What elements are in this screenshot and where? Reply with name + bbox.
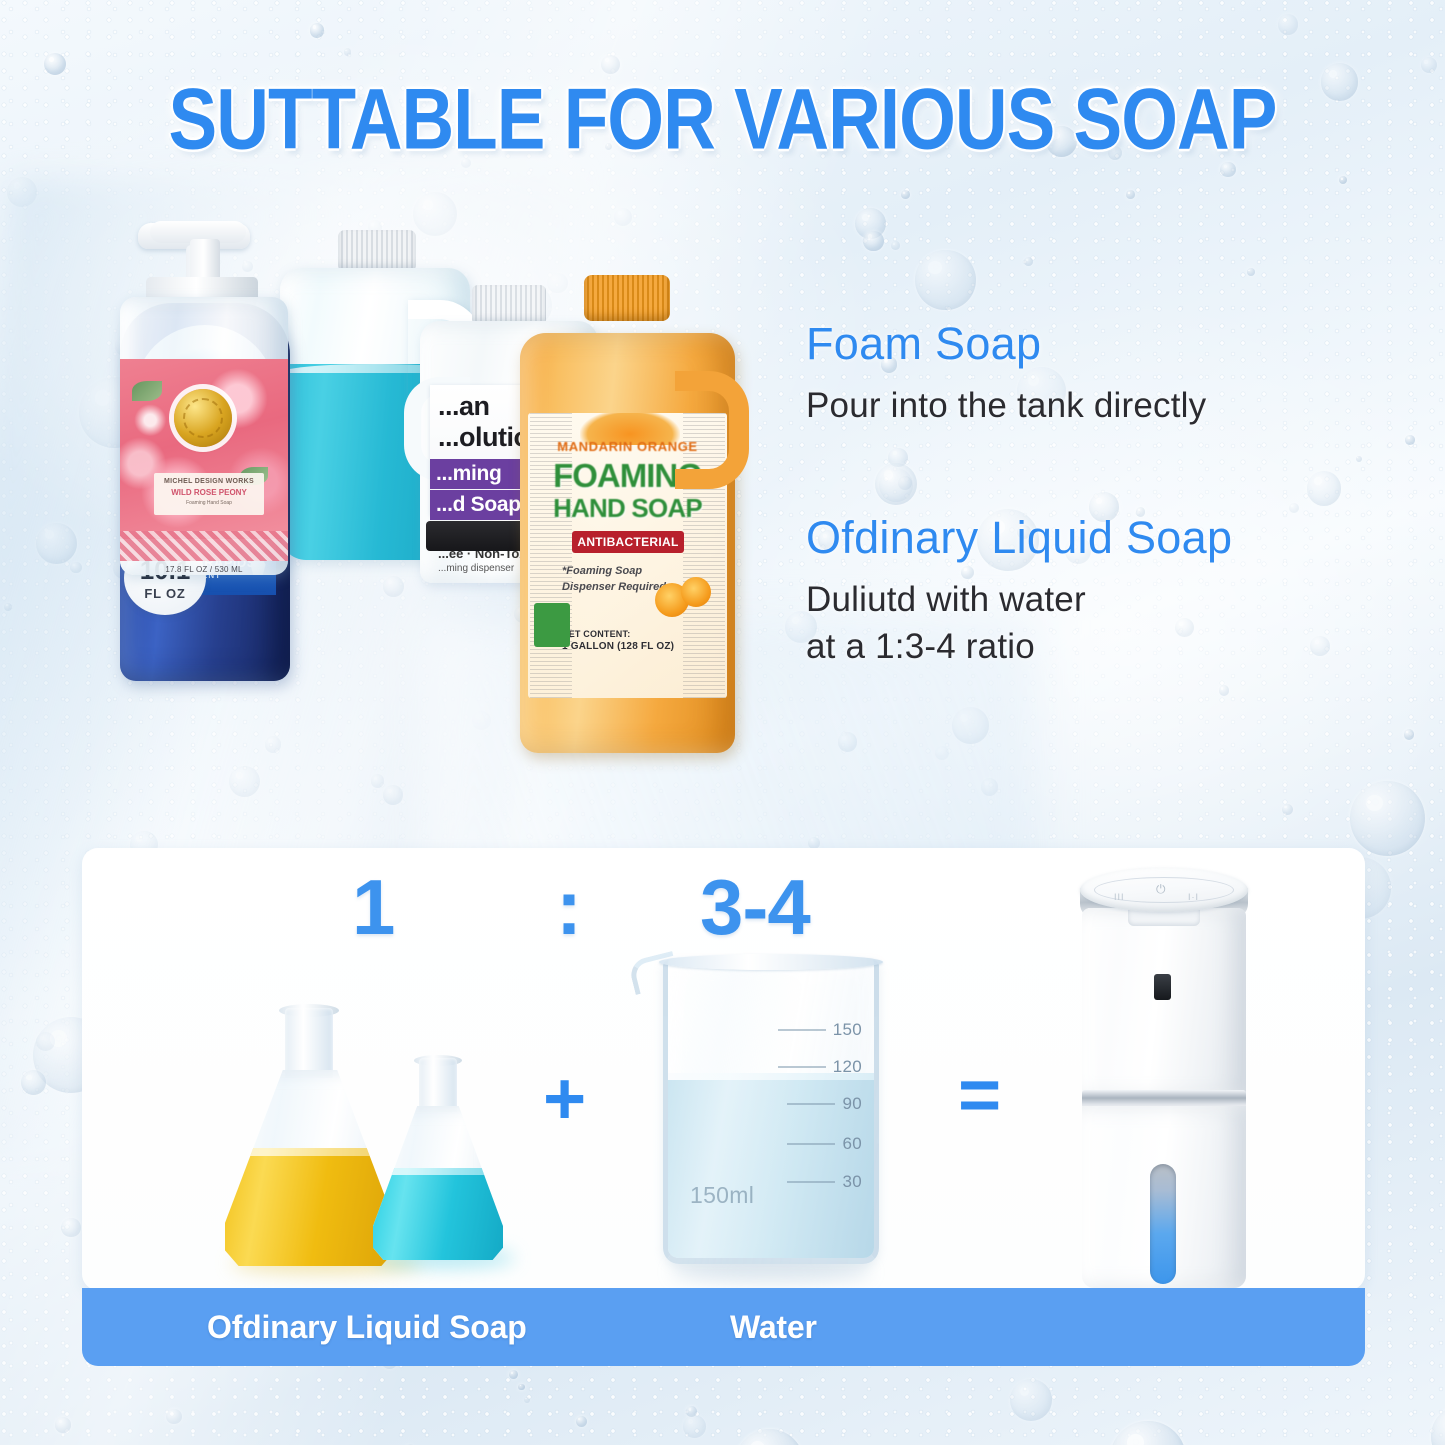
floral-label-line2: WILD ROSE PEONY bbox=[154, 488, 264, 497]
antibacterial-badge: ANTIBACTERIAL bbox=[572, 531, 684, 553]
graduation-label: 90 bbox=[842, 1094, 862, 1114]
graduation-90: 90 bbox=[787, 1094, 862, 1114]
label-side-text-left bbox=[530, 413, 572, 698]
dispenser-upper-body bbox=[1082, 908, 1246, 1098]
beaker-rim bbox=[659, 954, 883, 970]
orange-name-line2: HAND SOAP bbox=[528, 493, 727, 524]
graduation-line bbox=[778, 1066, 826, 1068]
erlenmeyer-flask-yellow bbox=[225, 1008, 395, 1266]
flask-liquid-yellow bbox=[225, 1148, 395, 1266]
flask-cone bbox=[373, 1106, 503, 1260]
beaker-glass: 150 120 90 60 30 150ml bbox=[663, 960, 879, 1264]
dispenser-level-indicator-right[interactable]: I·I bbox=[1188, 892, 1199, 902]
orange-slice-graphic bbox=[655, 575, 713, 621]
ratio-left-value: 1 bbox=[352, 862, 394, 953]
bottle-body: MICHEL DESIGN WORKS WILD ROSE PEONY Foam… bbox=[120, 297, 288, 575]
feature-foam-description: Pour into the tank directly bbox=[806, 384, 1206, 429]
floral-pattern-band bbox=[120, 531, 288, 561]
power-button-icon[interactable]: ⏻ bbox=[1156, 882, 1167, 897]
feature-liquid-soap: Ofdinary Liquid Soap Duliutd with water … bbox=[806, 512, 1232, 670]
soap-level-window bbox=[1150, 1164, 1176, 1284]
automatic-soap-dispenser: III ⏻ I·I bbox=[1076, 868, 1252, 1288]
beaker-capacity-label: 150ml bbox=[690, 1182, 754, 1209]
orange-requirement-line1: *Foaming Soap bbox=[562, 565, 642, 577]
jug-cap bbox=[584, 275, 670, 321]
orange-slice-2 bbox=[681, 577, 711, 607]
beaker-shadow bbox=[671, 1262, 871, 1282]
orange-requirement-line2: Dispenser Required bbox=[562, 581, 666, 593]
graduation-label: 120 bbox=[833, 1057, 862, 1077]
flask-neck bbox=[285, 1008, 333, 1078]
jug-handle bbox=[675, 371, 749, 489]
graduation-line bbox=[787, 1143, 835, 1145]
equals-icon: = bbox=[958, 1058, 1001, 1132]
dawn-volume-unit: FL OZ bbox=[124, 586, 206, 601]
graduation-label: 150 bbox=[833, 1020, 862, 1040]
feature-liquid-description-line1: Duliutd with water bbox=[806, 578, 1232, 623]
caption-liquid-soap: Ofdinary Liquid Soap bbox=[207, 1309, 527, 1346]
dispenser-level-indicator-left[interactable]: III bbox=[1114, 892, 1125, 902]
floral-volume: 17.8 FL OZ / 530 ML bbox=[120, 565, 288, 574]
floral-label-line1: MICHEL DESIGN WORKS bbox=[154, 478, 264, 485]
floral-text-block: MICHEL DESIGN WORKS WILD ROSE PEONY Foam… bbox=[154, 473, 264, 515]
feature-liquid-heading: Ofdinary Liquid Soap bbox=[806, 512, 1232, 564]
gold-seal-icon bbox=[174, 389, 232, 447]
orange-net-label: NET CONTENT: bbox=[562, 629, 630, 639]
feature-liquid-description-line2: at a 1:3-4 ratio bbox=[806, 625, 1232, 670]
feature-foam-heading: Foam Soap bbox=[806, 318, 1206, 370]
graduation-120: 120 bbox=[778, 1057, 862, 1077]
pump-head bbox=[150, 215, 254, 283]
page-title: SUTTABLE FOR VARIOUS SOAP bbox=[0, 71, 1445, 169]
orange-foaming-soap-jug: MANDARIN ORANGE FOAMING HAND SOAP ANTIBA… bbox=[520, 275, 745, 755]
leaf-graphic bbox=[132, 381, 162, 401]
orange-green-seal bbox=[534, 603, 570, 647]
orange-net-value: 1 GALLON (128 FL OZ) bbox=[562, 641, 674, 652]
infographic-stage: SUTTABLE FOR VARIOUS SOAP Foam Soap Pour… bbox=[0, 0, 1445, 1445]
floral-label-line3: Foaming Hand Soap bbox=[154, 500, 264, 506]
jug-cap bbox=[338, 230, 416, 272]
caption-bar: Ofdinary Liquid Soap Water bbox=[82, 1288, 1365, 1366]
graduation-line bbox=[787, 1103, 835, 1105]
graduation-label: 30 bbox=[842, 1172, 862, 1192]
graduation-30: 30 bbox=[787, 1172, 862, 1192]
measuring-beaker: 150 120 90 60 30 150ml bbox=[645, 952, 895, 1270]
ratio-separator: : bbox=[556, 862, 581, 953]
soap-bottle-group: ...an ...olution ...ming ...d Soap LAVEN… bbox=[120, 215, 780, 775]
ratio-right-value: 3-4 bbox=[700, 862, 810, 953]
motion-sensor-icon bbox=[1154, 974, 1171, 1000]
erlenmeyer-flask-cyan bbox=[373, 1058, 503, 1260]
graduation-150: 150 bbox=[778, 1020, 862, 1040]
graduation-line bbox=[787, 1181, 835, 1183]
graduation-60: 60 bbox=[787, 1134, 862, 1154]
caption-water: Water bbox=[730, 1309, 817, 1346]
feature-foam-soap: Foam Soap Pour into the tank directly bbox=[806, 318, 1206, 429]
flask-cone bbox=[225, 1070, 395, 1266]
flask-pair bbox=[225, 1000, 535, 1270]
graduation-label: 60 bbox=[842, 1134, 862, 1154]
flask-neck bbox=[419, 1058, 457, 1112]
plus-icon: + bbox=[543, 1062, 586, 1136]
flask-liquid-cyan bbox=[373, 1168, 503, 1260]
graduation-line bbox=[778, 1029, 826, 1031]
